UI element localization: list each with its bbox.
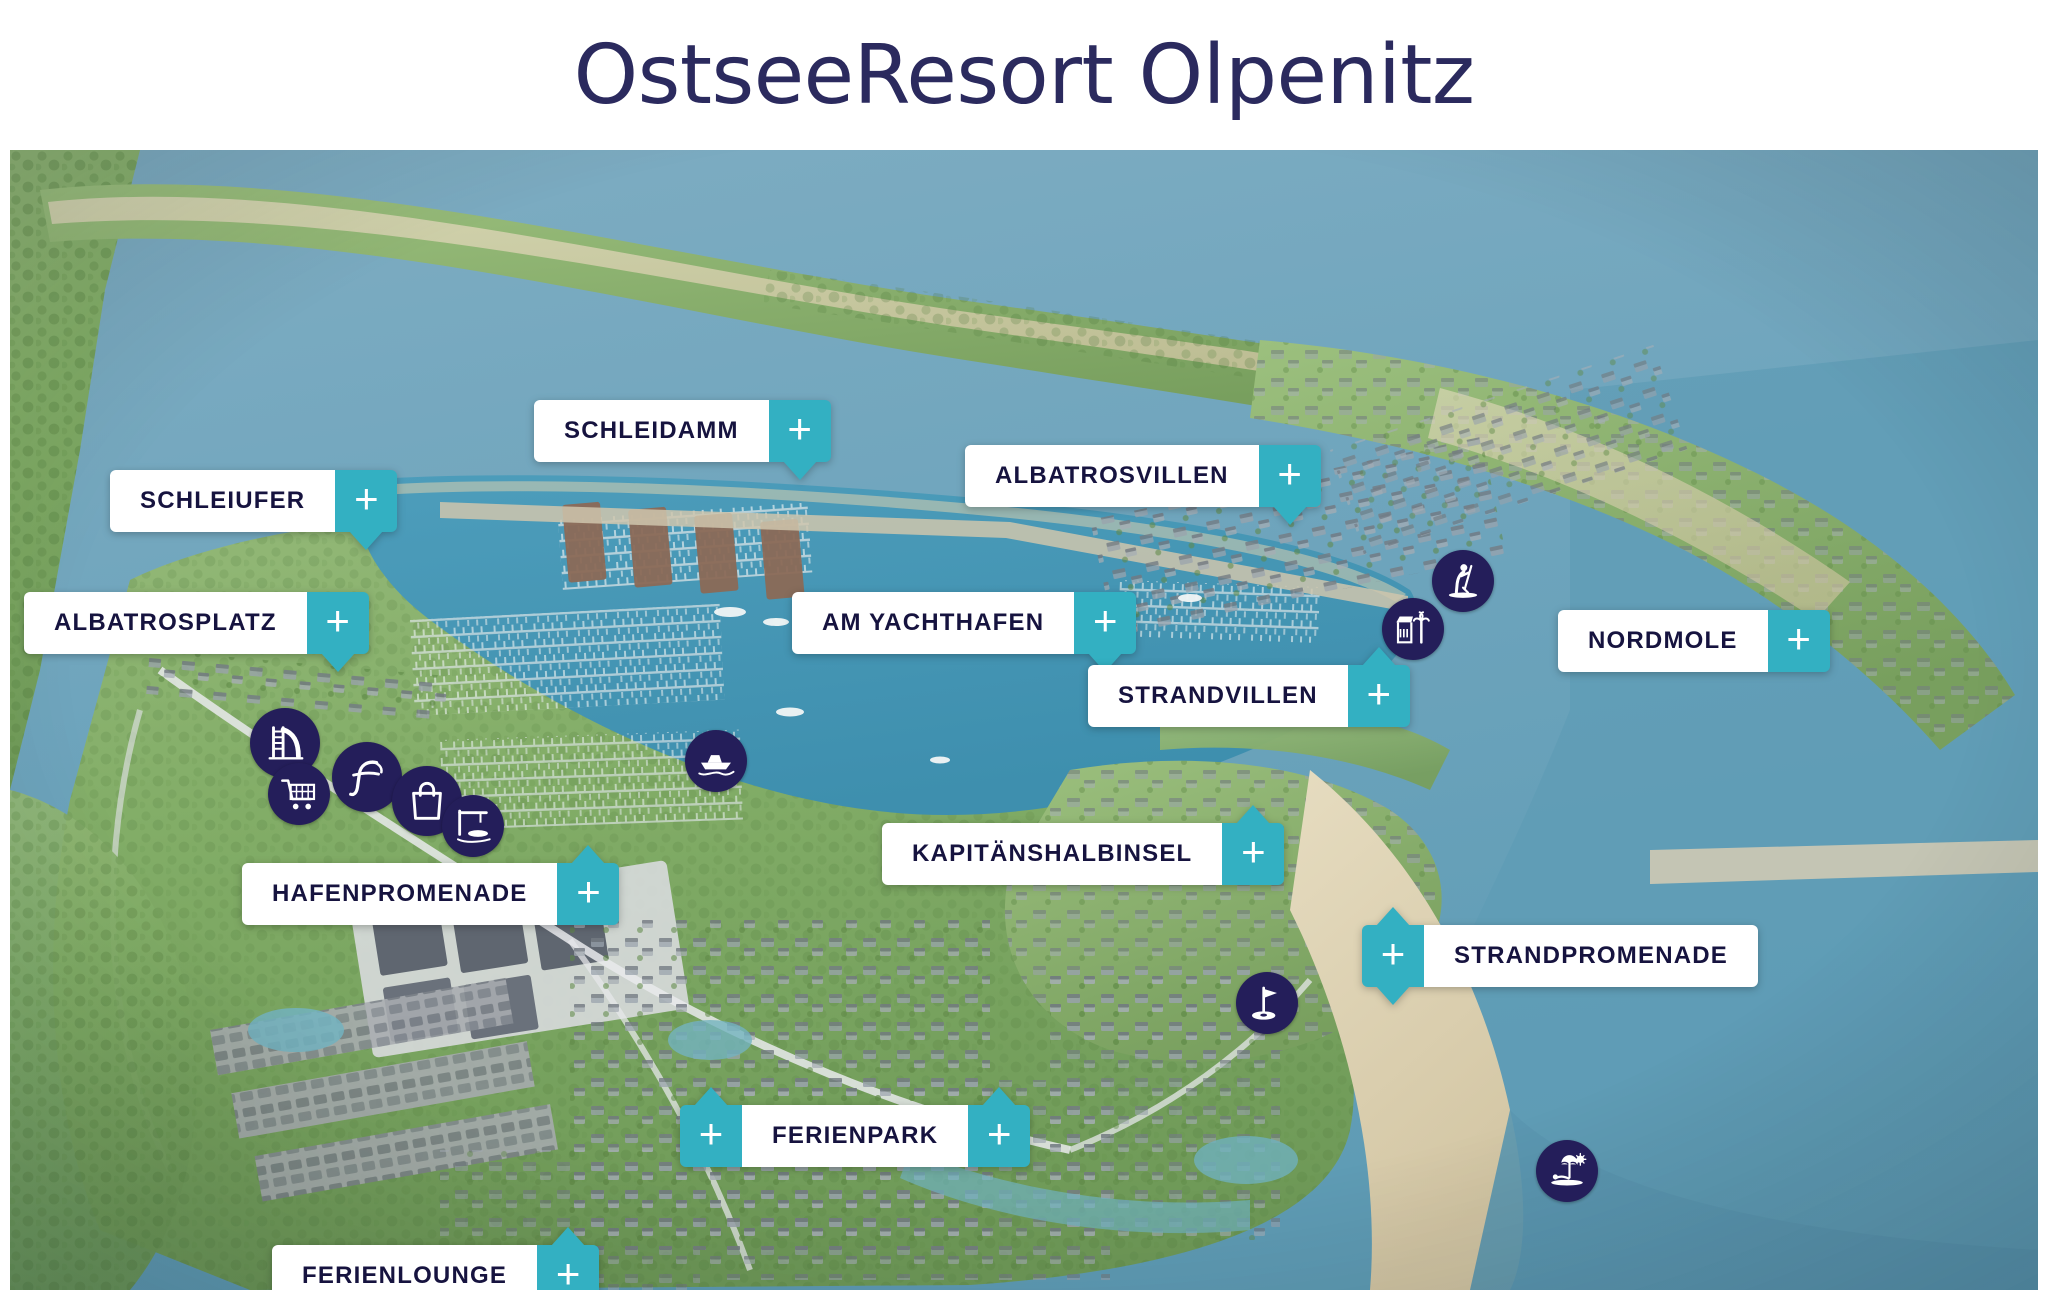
map-pin-label: KAPITÄNSHALBINSEL xyxy=(912,840,1192,868)
plus-icon: + xyxy=(354,478,379,520)
map-pin-am-yachthafen[interactable]: AM YACHTHAFEN + xyxy=(792,592,1136,654)
map-pin-label-box: KAPITÄNSHALBINSEL xyxy=(882,823,1222,885)
map-pin-kapitaenshalbinsel[interactable]: KAPITÄNSHALBINSEL + xyxy=(882,823,1284,885)
map-pin-label: ALBATROSPLATZ xyxy=(54,609,277,637)
plus-icon: + xyxy=(1241,831,1266,873)
plus-icon: + xyxy=(1093,600,1118,642)
map-pin-albatrosplatz[interactable]: ALBATROSPLATZ + xyxy=(24,592,369,654)
map-pin-label-box: AM YACHTHAFEN xyxy=(792,592,1074,654)
map-pin-label: FERIENPARK xyxy=(772,1122,938,1150)
page-title: OstseeResort Olpenitz xyxy=(574,28,1475,123)
plus-icon: + xyxy=(1366,673,1391,715)
beach-umbrella-icon[interactable] xyxy=(1536,1140,1598,1202)
expand-button-schleiufer[interactable]: + xyxy=(335,470,397,532)
map-pin-label-box: SCHLEIDAMM xyxy=(534,400,769,462)
map-pin-hafenpromenade[interactable]: HAFENPROMENADE + xyxy=(242,863,619,925)
expand-button-ferienlounge[interactable]: + xyxy=(537,1245,599,1290)
map-pin-label-box: HAFENPROMENADE xyxy=(242,863,557,925)
map-pin-label-box: FERIENLOUNGE xyxy=(272,1245,537,1290)
page-header: OstseeResort Olpenitz xyxy=(0,0,2048,150)
map-pin-label: NORDMOLE xyxy=(1588,627,1738,655)
motorboat-icon[interactable] xyxy=(685,730,747,792)
plus-icon: + xyxy=(576,871,601,913)
map-pin-label: ALBATROSVILLEN xyxy=(995,462,1229,490)
map-pin-albatrosvillen[interactable]: ALBATROSVILLEN + xyxy=(965,445,1321,507)
map-pin-label: AM YACHTHAFEN xyxy=(822,609,1044,637)
expand-button-strandvillen[interactable]: + xyxy=(1348,665,1410,727)
map-pin-label: FERIENLOUNGE xyxy=(302,1262,507,1290)
map-pin-strandpromenade[interactable]: + STRANDPROMENADE xyxy=(1362,925,1758,987)
expand-button-ferienpark-left[interactable]: + xyxy=(680,1105,742,1167)
resort-map[interactable]: SCHLEIDAMM + SCHLEIUFER + ALBATROSVILLEN… xyxy=(10,150,2038,1290)
expand-button-strandpromenade[interactable]: + xyxy=(1362,925,1424,987)
plus-icon: + xyxy=(556,1253,581,1290)
expand-button-albatrosplatz[interactable]: + xyxy=(307,592,369,654)
boat-crane-icon[interactable] xyxy=(442,795,504,857)
paddleboard-icon[interactable] xyxy=(1432,550,1494,612)
map-pin-label-box: FERIENPARK xyxy=(742,1105,968,1167)
map-pin-label-box: ALBATROSVILLEN xyxy=(965,445,1259,507)
map-pin-label: SCHLEIUFER xyxy=(140,487,305,515)
map-pin-label: SCHLEIDAMM xyxy=(564,417,739,445)
golf-flag-icon[interactable] xyxy=(1236,972,1298,1034)
plus-icon: + xyxy=(1786,618,1811,660)
map-pin-label-box: SCHLEIUFER xyxy=(110,470,335,532)
map-pin-label-box: NORDMOLE xyxy=(1558,610,1768,672)
expand-button-kapitaenshalbinsel[interactable]: + xyxy=(1222,823,1284,885)
page-root: OstseeResort Olpenitz xyxy=(0,0,2048,1303)
expand-button-schleidamm[interactable]: + xyxy=(769,400,831,462)
map-pin-label: STRANDVILLEN xyxy=(1118,682,1318,710)
shopping-cart-icon[interactable] xyxy=(268,763,330,825)
map-pin-strandvillen[interactable]: STRANDVILLEN + xyxy=(1088,665,1410,727)
expand-button-nordmole[interactable]: + xyxy=(1768,610,1830,672)
map-pin-schleidamm[interactable]: SCHLEIDAMM + xyxy=(534,400,831,462)
plus-icon: + xyxy=(987,1113,1012,1155)
plus-icon: + xyxy=(1381,933,1406,975)
map-pin-ferienlounge[interactable]: FERIENLOUNGE + xyxy=(272,1245,599,1290)
plus-icon: + xyxy=(787,408,812,450)
map-pin-ferienpark[interactable]: + FERIENPARK + xyxy=(680,1105,1030,1167)
map-pin-schleiufer[interactable]: SCHLEIUFER + xyxy=(110,470,397,532)
expand-button-hafenpromenade[interactable]: + xyxy=(557,863,619,925)
plus-icon: + xyxy=(1277,453,1302,495)
plus-icon: + xyxy=(325,600,350,642)
expand-button-ferienpark-right[interactable]: + xyxy=(968,1105,1030,1167)
map-pin-label-box: ALBATROSPLATZ xyxy=(24,592,307,654)
plus-icon: + xyxy=(699,1113,724,1155)
map-pin-nordmole[interactable]: NORDMOLE + xyxy=(1558,610,1830,672)
expand-button-am-yachthafen[interactable]: + xyxy=(1074,592,1136,654)
map-pin-label-box: STRANDPROMENADE xyxy=(1424,925,1758,987)
map-pin-label-box: STRANDVILLEN xyxy=(1088,665,1348,727)
map-pin-label: STRANDPROMENADE xyxy=(1454,942,1728,970)
expand-button-albatrosvillen[interactable]: + xyxy=(1259,445,1321,507)
map-pin-label: HAFENPROMENADE xyxy=(272,880,527,908)
